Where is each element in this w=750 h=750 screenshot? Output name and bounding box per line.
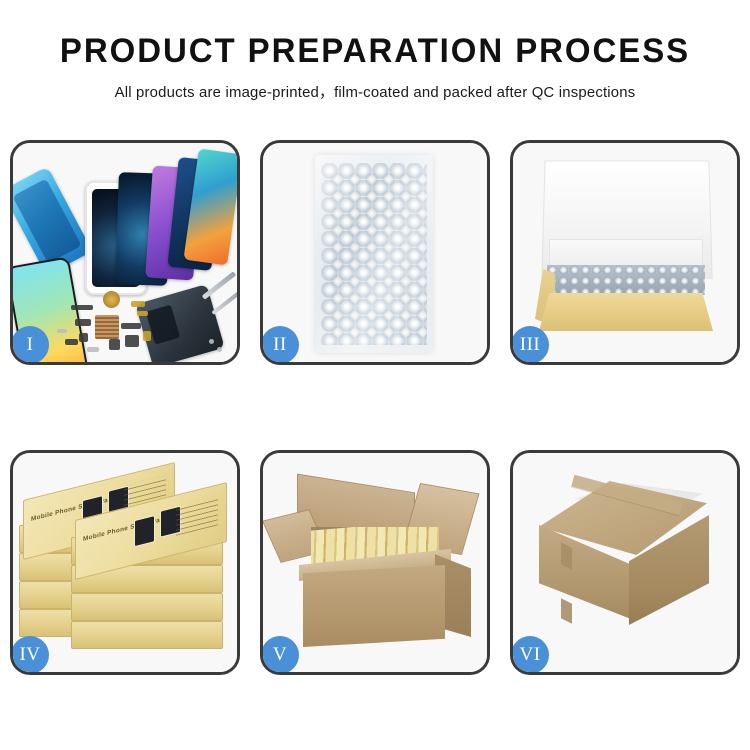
header: PRODUCT PREPARATION PROCESS All products… <box>0 0 750 102</box>
packing-tape-lower <box>561 598 572 624</box>
box-front-panel <box>539 293 713 331</box>
box-spec-lines <box>176 495 218 535</box>
bubble-wrapped-product <box>315 155 433 353</box>
step-3-image <box>513 143 737 362</box>
step-panel-4: Mobile Phone Spare Parts Mobile Phone Sp… <box>10 450 240 675</box>
phone-logic-board <box>135 284 224 365</box>
step-2-image <box>263 143 487 362</box>
step-badge-4: IV <box>11 636 49 674</box>
carton-front-panel <box>303 565 445 647</box>
bubble-wrapped-contents <box>547 265 705 295</box>
step-panel-3: III <box>510 140 740 365</box>
part-button <box>79 333 88 342</box>
part-gold-bracket <box>137 311 148 316</box>
part-metal-clip <box>57 329 67 333</box>
part-flex-cable <box>121 323 141 329</box>
step-5-image <box>263 453 487 672</box>
step-badge-1: I <box>11 326 49 364</box>
step-panel-2: II <box>260 140 490 365</box>
part-connector-small <box>65 339 78 345</box>
box-label: Mobile Phone Spare Parts <box>83 515 169 543</box>
page-title: PRODUCT PREPARATION PROCESS <box>11 34 739 70</box>
step-badge-6: VI <box>511 636 549 674</box>
step-4-image: Mobile Phone Spare Parts Mobile Phone Sp… <box>13 453 237 672</box>
step-panel-5: V <box>260 450 490 675</box>
process-steps-grid: I II III <box>10 140 740 675</box>
page-subtitle: All products are image-printed，film-coat… <box>8 80 743 102</box>
step-badge-2: II <box>261 326 299 364</box>
step-badge-3: III <box>511 326 549 364</box>
part-receiver <box>109 339 120 350</box>
step-6-image <box>513 453 737 672</box>
step-panel-1: I <box>10 140 240 365</box>
part-gold-connector <box>131 301 145 307</box>
product-preparation-infographic: PRODUCT PREPARATION PROCESS All products… <box>0 0 750 750</box>
box-product-photo <box>134 515 155 547</box>
part-screw-1 <box>209 339 214 344</box>
screwdriver-tool <box>211 291 240 315</box>
stacked-box <box>71 621 223 649</box>
stacked-box <box>71 593 223 621</box>
part-camera-module <box>75 319 91 326</box>
part-screw-plate <box>87 347 99 352</box>
part-screw-2 <box>217 347 222 352</box>
part-gold-chip <box>143 331 151 341</box>
part-vibrator <box>125 335 139 347</box>
plastic-film-sheen <box>315 155 433 353</box>
part-shield-mesh <box>95 315 119 339</box>
part-flex-strip <box>71 305 93 310</box>
part-speaker-coil <box>103 291 120 308</box>
step-panel-6: VI <box>510 450 740 675</box>
box-stack: Mobile Phone Spare Parts Mobile Phone Sp… <box>19 471 231 659</box>
step-badge-5: V <box>261 636 299 674</box>
step-1-image <box>13 143 237 362</box>
